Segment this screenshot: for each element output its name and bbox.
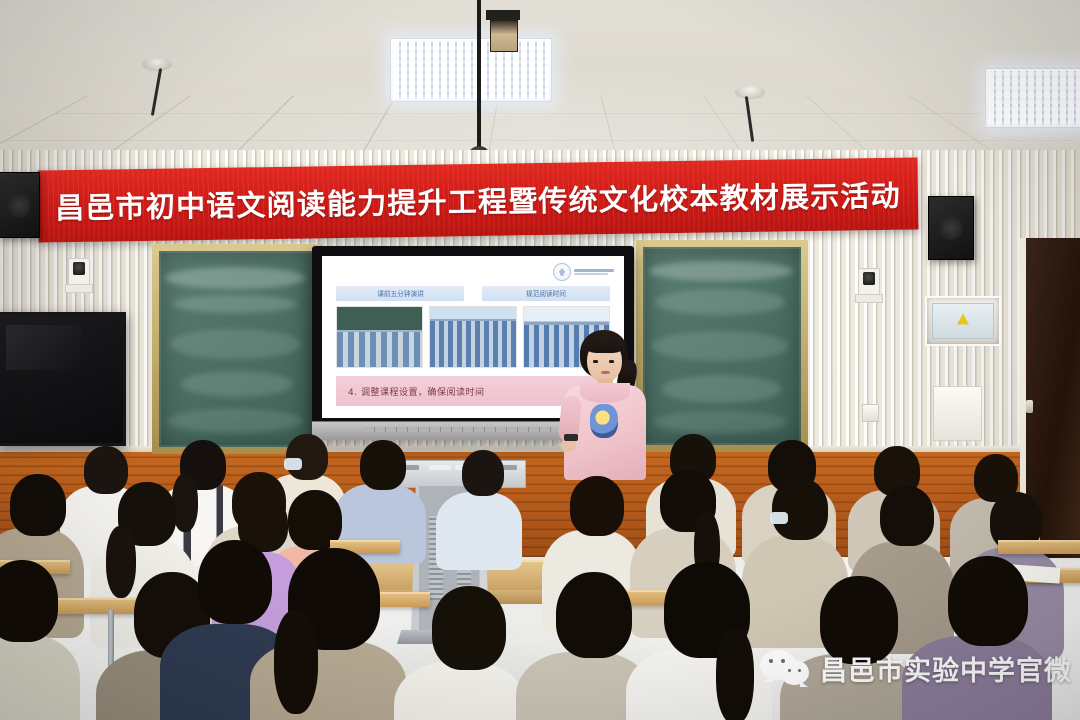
right-camera-bracket [855,294,883,303]
teacher-hood [580,383,630,403]
teacher-bangs [585,337,624,353]
watermark-text: 昌邑市实验中学官微 [820,649,1072,688]
right-chalkboard [636,240,808,452]
left-chalkboard [152,244,322,454]
face-mask [770,512,788,524]
teacher-eye [593,360,598,363]
teacher-mouth [601,371,610,374]
ceiling-projector [490,20,518,52]
ceiling-mount [735,86,765,99]
remote-clicker [564,434,578,441]
desk [998,540,1080,554]
slide-photo [429,306,516,368]
ceiling-mount [142,58,172,71]
wall-display[interactable] [0,312,126,446]
slide-caption-text: 4. 调整课程设置，确保阅读时间 [348,385,484,398]
slide-photo [336,306,423,368]
right-speaker [928,196,974,260]
slide-header-2-label: 规范阅读时间 [526,289,566,299]
school-emblem-icon [553,263,614,281]
watermark: 昌邑市实验中学官微 [760,648,1072,688]
light-switch[interactable] [862,404,879,422]
ceiling-light-panel [985,68,1080,128]
event-banner: 昌邑市初中语文阅读能力提升工程暨传统文化校本教材展示活动 [38,157,919,242]
slide-header-1-label: 课前五分钟演讲 [377,289,424,299]
warning-triangle-icon [957,314,969,325]
teacher-eye [609,360,614,363]
hoodie-graphic-print [590,404,618,438]
projector-mount [486,10,520,20]
face-mask [284,458,302,470]
ceiling-light-panel [390,38,552,102]
left-speaker [0,172,40,238]
classroom-photo: 昌邑市初中语文阅读能力提升工程暨传统文化校本教材展示活动 [0,0,1080,720]
banner-text: 昌邑市初中语文阅读能力提升工程暨传统文化校本教材展示活动 [55,173,901,228]
slide-header-2: 规范阅读时间 [482,286,610,301]
door-handle[interactable] [1026,400,1033,413]
camera-drop-cable [477,0,481,148]
right-wall-camera-icon [858,268,880,296]
electrical-panel[interactable] [925,296,1001,346]
slide-headers: 课前五分钟演讲 规范阅读时间 [336,286,610,301]
left-camera-bracket [65,284,93,293]
slide-header-1: 课前五分钟演讲 [336,286,464,301]
left-wall-camera-icon [68,258,90,286]
wall-notice [933,386,982,441]
wechat-icon [760,648,810,688]
presenting-teacher [556,330,652,480]
